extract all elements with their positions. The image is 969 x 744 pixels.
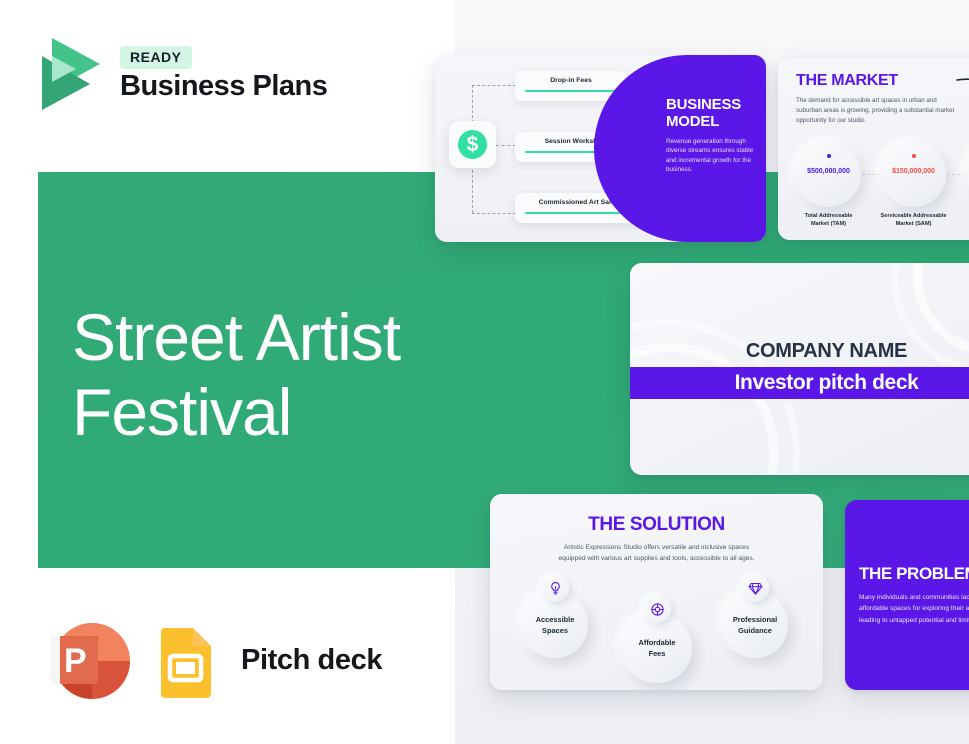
svg-text:P: P	[64, 642, 87, 680]
metric-dot	[912, 154, 916, 158]
google-slides-icon[interactable]	[157, 624, 215, 698]
slide-title: THE PROBLEM	[859, 564, 969, 584]
metric-value: $500,000,000	[796, 168, 861, 175]
slide-subtitle: Investor pitch deck	[735, 371, 919, 395]
slide-market[interactable]: THE MARKET The demand for accessible art…	[778, 58, 969, 240]
connector-line	[496, 145, 516, 146]
subtitle-band: Investor pitch deck	[630, 367, 969, 399]
brand-name: Business Plans	[120, 71, 327, 101]
connector-line	[472, 213, 516, 214]
solution-item[interactable]: Affordable Fees	[622, 613, 692, 683]
metric-caption: Total Addressable Market (TAM)	[786, 212, 871, 229]
poster-canvas: READY Business Plans Street Artist Festi…	[0, 0, 969, 744]
revenue-stream-label: Drop-in Fees	[525, 77, 617, 84]
slide-title: THE MARKET	[796, 72, 898, 90]
powerpoint-icon[interactable]: P	[42, 614, 135, 707]
solution-label: Accessible Spaces	[536, 614, 575, 636]
curved-arrow-icon	[955, 74, 969, 120]
dollar-icon: $	[458, 130, 487, 159]
slide-solution[interactable]: THE SOLUTION Artistic Expressions Studio…	[490, 494, 823, 690]
accent-bar	[525, 212, 632, 214]
diamond-icon	[741, 574, 769, 602]
connector-line	[862, 174, 880, 175]
solution-label: Professional Guidance	[733, 614, 777, 636]
slide-description: Artistic Expressions Studio offers versa…	[550, 542, 763, 565]
purple-panel: BUSINESS MODEL Revenue generation throug…	[594, 55, 766, 242]
target-icon	[643, 595, 671, 623]
slide-problem[interactable]: THE PROBLEM Many individuals and communi…	[845, 500, 969, 690]
market-metric[interactable]: $150,000,000	[881, 142, 946, 207]
format-label: Pitch deck	[241, 644, 382, 677]
brand-logo[interactable]: READY Business Plans	[38, 34, 327, 114]
dollar-card: $	[449, 121, 496, 168]
connector-line	[472, 85, 516, 86]
company-name: COMPANY NAME	[630, 340, 969, 363]
connector-line	[947, 174, 965, 175]
format-row: P Pitch deck	[42, 614, 382, 707]
page-title: Street Artist Festival	[72, 300, 400, 449]
slide-title: BUSINESS MODEL	[666, 97, 761, 130]
slide-company-title[interactable]: COMPANY NAME Investor pitch deck	[630, 263, 969, 475]
metric-value: $150,000,000	[881, 168, 946, 175]
play-triangle-logo-icon	[38, 34, 104, 114]
slide-description: Revenue generation through diverse strea…	[666, 137, 761, 175]
lightbulb-icon	[541, 574, 569, 602]
metric-caption: Serviceable Addressable Market (SAM)	[871, 212, 956, 229]
market-metric[interactable]: $500,000,000	[796, 142, 861, 207]
slide-description: The demand for accessible art spaces in …	[796, 96, 956, 126]
accent-bar	[525, 90, 617, 92]
solution-label: Affordable Fees	[639, 637, 676, 659]
slide-description: Many individuals and communities lack ac…	[859, 592, 969, 626]
ready-badge: READY	[120, 46, 192, 69]
metric-dot	[827, 154, 831, 158]
slide-business-model[interactable]: $ Drop-in Fees Session Workshops Commiss…	[435, 55, 766, 242]
slide-title: THE SOLUTION	[490, 514, 823, 536]
